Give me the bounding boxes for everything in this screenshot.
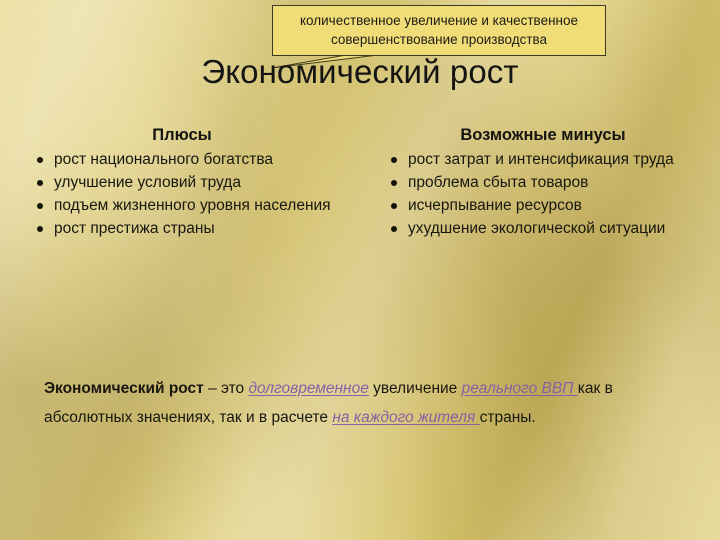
list-item: исчерпывание ресурсов bbox=[384, 196, 696, 216]
column-cons: Возможные минусы рост затрат и интенсифи… bbox=[360, 124, 720, 344]
definition-text-1: – это bbox=[204, 380, 249, 397]
list-item: проблема сбыта товаров bbox=[384, 173, 696, 193]
list-item: подъем жизненного уровня населения bbox=[30, 196, 334, 216]
callout-line-2: совершенствование производства bbox=[279, 30, 599, 49]
column-pros-list: рост национального богатства улучшение у… bbox=[30, 150, 334, 239]
definition-link-dolgovremennoe[interactable]: долговременное bbox=[248, 380, 368, 397]
list-item: улучшение условий труда bbox=[30, 173, 334, 193]
callout-box: количественное увеличение и качественное… bbox=[272, 5, 606, 56]
column-cons-list: рост затрат и интенсификация труда пробл… bbox=[384, 150, 696, 239]
definition-link-na-kazhdogo-zhitelya[interactable]: на каждого жителя bbox=[332, 409, 479, 426]
slide-canvas: количественное увеличение и качественное… bbox=[0, 0, 720, 540]
list-item: рост затрат и интенсификация труда bbox=[384, 150, 696, 170]
list-item: рост национального богатства bbox=[30, 150, 334, 170]
callout-line-1: количественное увеличение и качественное bbox=[279, 11, 599, 30]
list-item: ухудшение экологической ситуации bbox=[384, 219, 696, 239]
list-item: рост престижа страны bbox=[30, 219, 334, 239]
content-columns: Плюсы рост национального богатства улучш… bbox=[0, 124, 720, 344]
definition-link-realnogo-vvp[interactable]: реального ВВП bbox=[462, 380, 578, 397]
column-pros-heading: Плюсы bbox=[30, 124, 334, 146]
page-title: Экономический рост bbox=[0, 52, 720, 92]
column-pros: Плюсы рост национального богатства улучш… bbox=[0, 124, 360, 344]
definition-text-4: страны. bbox=[480, 409, 536, 426]
definition-text-2: увеличение bbox=[369, 380, 462, 397]
column-cons-heading: Возможные минусы bbox=[390, 124, 696, 146]
definition-term: Экономический рост bbox=[44, 380, 204, 397]
definition-paragraph: Экономический рост – это долговременное … bbox=[44, 374, 692, 432]
